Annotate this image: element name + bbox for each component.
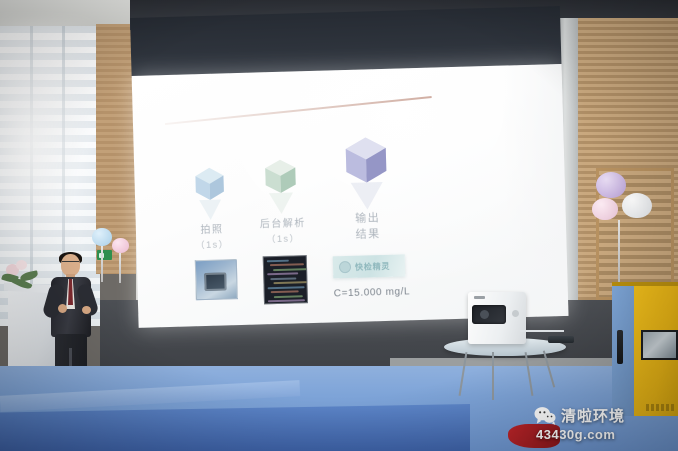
projector-dial [512, 310, 519, 317]
flower-arrangement [2, 258, 46, 294]
code-line [268, 299, 305, 302]
projector-lens [472, 305, 506, 324]
purple-balloon [596, 172, 626, 198]
step-3-text-line1: 输出 [338, 211, 398, 229]
step-1-time: （1s） [184, 238, 240, 253]
code-terminal-thumbnail [263, 255, 308, 304]
code-line [268, 286, 305, 289]
result-card: 快检精灵 [333, 254, 406, 278]
watermark-name: 清啦环境 [561, 405, 625, 426]
code-line [267, 272, 298, 275]
watermark-url: 43430g.com [534, 427, 676, 442]
balloon-stick [618, 220, 620, 282]
presenter-right-hand [82, 306, 91, 314]
presenter-head [61, 254, 80, 276]
step-3-text-line2: 结果 [338, 227, 398, 245]
result-card-logo-icon [339, 261, 351, 273]
flower-petal [16, 260, 27, 270]
code-line [270, 263, 304, 266]
cube-purple-icon [341, 135, 391, 217]
wechat-icon [534, 406, 556, 425]
step-2-label: 后台解析 （1s） [248, 217, 319, 246]
step-1-label: 拍照 （1s） [184, 223, 241, 252]
cabinet-display-screen[interactable] [641, 330, 678, 360]
step-1-text: 拍照 [184, 223, 240, 239]
cube-green-icon [262, 157, 300, 221]
code-line [267, 259, 289, 262]
projector-brand-mark [474, 296, 485, 299]
photo-device-thumbnail [195, 259, 238, 300]
white-balloon [622, 193, 652, 218]
pink-balloon [592, 198, 618, 220]
result-value: C=15.000 mg/L [334, 286, 411, 299]
table-leg [492, 352, 494, 400]
remote-control [548, 336, 574, 343]
green-exit-sign [97, 250, 112, 260]
cabinet-handle[interactable] [617, 330, 623, 364]
presentation-photo-scene: 产品定位 快检精灵 一款融合云识APP 拍照 [0, 0, 678, 451]
cube-blue-icon [192, 165, 228, 227]
presenter-glasses [62, 261, 79, 265]
blue-balloon [92, 228, 112, 246]
step-2-time: （1s） [248, 231, 318, 246]
code-line [273, 268, 308, 271]
projection-screen: 产品定位 快检精灵 一款融合云识APP 拍照 [130, 6, 568, 328]
code-line [273, 281, 308, 284]
code-line [270, 277, 296, 280]
screen-surface: 产品定位 快检精灵 一款融合云识APP 拍照 [132, 64, 569, 328]
pink-balloon-left [112, 238, 129, 253]
watermark: 清啦环境 43430g.com [534, 405, 676, 447]
balloon-stick [101, 246, 103, 282]
step-3-label: 输出 结果 [338, 211, 399, 245]
balloon-stick [119, 253, 121, 283]
cabinet-door[interactable] [612, 286, 634, 416]
presenter-left-hand [58, 304, 67, 313]
code-line [271, 304, 307, 305]
code-line [271, 290, 299, 293]
screen-right-falloff [501, 64, 568, 318]
result-card-text: 快检精灵 [355, 260, 390, 272]
code-line [274, 295, 303, 298]
slide-divider-line [165, 96, 432, 125]
